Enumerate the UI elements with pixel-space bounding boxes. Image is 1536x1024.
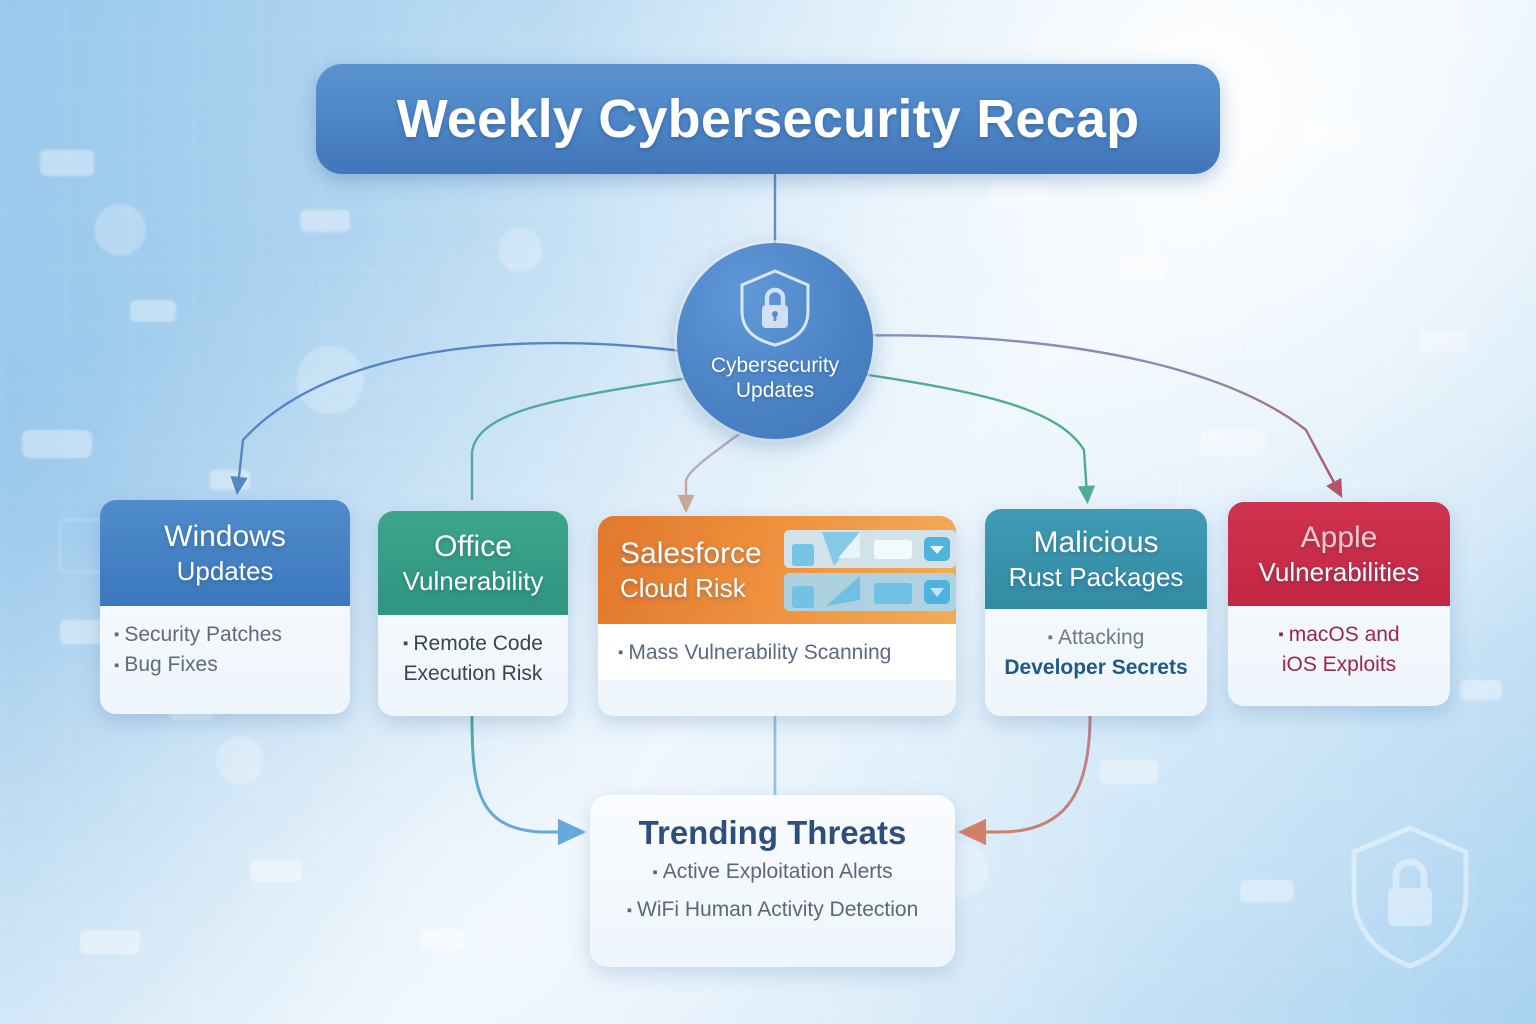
- card-salesforce-cloud-risk[interactable]: Salesforce Cloud Risk ▪Mass Vulnerabilit…: [598, 516, 956, 716]
- card-windows-bullet-2: ▪Bug Fixes: [114, 650, 336, 680]
- bullet-marker-icon: ▪: [114, 626, 119, 643]
- card-rust-title-line2: Rust Packages: [1009, 561, 1184, 593]
- card-salesforce-header: Salesforce Cloud Risk: [598, 516, 956, 624]
- card-windows-bullet-1: ▪Security Patches: [114, 620, 336, 650]
- hub-label: Cybersecurity Updates: [711, 353, 839, 403]
- card-salesforce-body: ▪Mass Vulnerability Scanning: [598, 624, 956, 680]
- card-office-bullet-2: Execution Risk: [392, 659, 554, 689]
- hub-node-cybersecurity-updates[interactable]: Cybersecurity Updates: [677, 243, 873, 439]
- card-rust-bullet-2: Developer Secrets: [999, 653, 1193, 683]
- card-salesforce-bullet-1-text: Mass Vulnerability Scanning: [628, 641, 891, 664]
- hub-label-line2: Updates: [736, 379, 814, 402]
- card-rust-header: Malicious Rust Packages: [985, 509, 1207, 609]
- cloud-server-panels-icon: [782, 528, 956, 614]
- card-office-vulnerability[interactable]: Office Vulnerability ▪Remote Code Execut…: [378, 511, 568, 716]
- card-salesforce-title-line2: Cloud Risk: [620, 572, 746, 604]
- card-apple-bullet-1-text: macOS and: [1289, 623, 1400, 646]
- card-apple-vulnerabilities[interactable]: Apple Vulnerabilities ▪macOS and iOS Exp…: [1228, 502, 1450, 706]
- card-windows-body: ▪Security Patches ▪Bug Fixes: [100, 606, 350, 693]
- card-office-title-line1: Office: [434, 529, 512, 565]
- card-trending-threats[interactable]: Trending Threats ▪Active Exploitation Al…: [590, 795, 955, 967]
- card-office-header: Office Vulnerability: [378, 511, 568, 615]
- card-apple-header: Apple Vulnerabilities: [1228, 502, 1450, 606]
- card-office-bullet-1: ▪Remote Code: [392, 629, 554, 659]
- card-salesforce-title-line1: Salesforce: [620, 536, 762, 572]
- bullet-marker-icon: ▪: [652, 864, 657, 881]
- card-trending-title: Trending Threats: [606, 813, 939, 853]
- card-office-bullet-1-text: Remote Code: [413, 632, 543, 655]
- card-trending-bullet-2: ▪WiFi Human Activity Detection: [606, 891, 939, 929]
- card-apple-bullet-1: ▪macOS and: [1242, 620, 1436, 650]
- card-windows-updates[interactable]: Windows Updates ▪Security Patches ▪Bug F…: [100, 500, 350, 714]
- hub-label-line1: Cybersecurity: [711, 354, 839, 377]
- card-office-body: ▪Remote Code Execution Risk: [378, 615, 568, 701]
- bullet-marker-icon: ▪: [627, 902, 632, 919]
- card-apple-body: ▪macOS and iOS Exploits: [1228, 606, 1450, 692]
- bullet-marker-icon: ▪: [1048, 629, 1053, 646]
- card-rust-bullet-1: ▪Attacking: [999, 623, 1193, 653]
- card-rust-bullet-1-text: Attacking: [1058, 626, 1144, 649]
- card-windows-header: Windows Updates: [100, 500, 350, 606]
- card-office-bullet-2-text: Execution Risk: [404, 662, 543, 685]
- card-salesforce-title: Salesforce Cloud Risk: [620, 524, 762, 616]
- bullet-marker-icon: ▪: [618, 644, 623, 661]
- card-rust-title-line1: Malicious: [1033, 525, 1158, 561]
- bullet-marker-icon: ▪: [403, 635, 408, 652]
- page-title: Weekly Cybersecurity Recap: [397, 88, 1140, 150]
- card-windows-bullet-1-text: Security Patches: [124, 623, 282, 646]
- card-rust-body: ▪Attacking Developer Secrets: [985, 609, 1207, 695]
- card-malicious-rust-packages[interactable]: Malicious Rust Packages ▪Attacking Devel…: [985, 509, 1207, 716]
- card-trending-bullet-1-text: Active Exploitation Alerts: [663, 860, 893, 883]
- card-trending-bullet-1: ▪Active Exploitation Alerts: [606, 853, 939, 891]
- shield-lock-icon: [736, 267, 814, 347]
- card-apple-bullet-2: iOS Exploits: [1242, 650, 1436, 680]
- card-windows-title-line1: Windows: [164, 519, 286, 555]
- card-office-title-line2: Vulnerability: [403, 565, 544, 597]
- card-salesforce-bullet-1: ▪Mass Vulnerability Scanning: [612, 638, 942, 668]
- bullet-marker-icon: ▪: [1278, 626, 1283, 643]
- card-apple-bullet-2-text: iOS Exploits: [1282, 653, 1396, 676]
- card-windows-bullet-2-text: Bug Fixes: [124, 653, 217, 676]
- card-apple-title-line2: Vulnerabilities: [1259, 556, 1420, 588]
- bullet-marker-icon: ▪: [114, 657, 119, 674]
- card-rust-bullet-2-text: Developer Secrets: [1004, 656, 1187, 679]
- card-trending-bullet-2-text: WiFi Human Activity Detection: [637, 898, 918, 921]
- page-title-banner: Weekly Cybersecurity Recap: [316, 64, 1220, 174]
- card-apple-title-line1: Apple: [1301, 520, 1378, 556]
- card-windows-title-line2: Updates: [177, 555, 274, 587]
